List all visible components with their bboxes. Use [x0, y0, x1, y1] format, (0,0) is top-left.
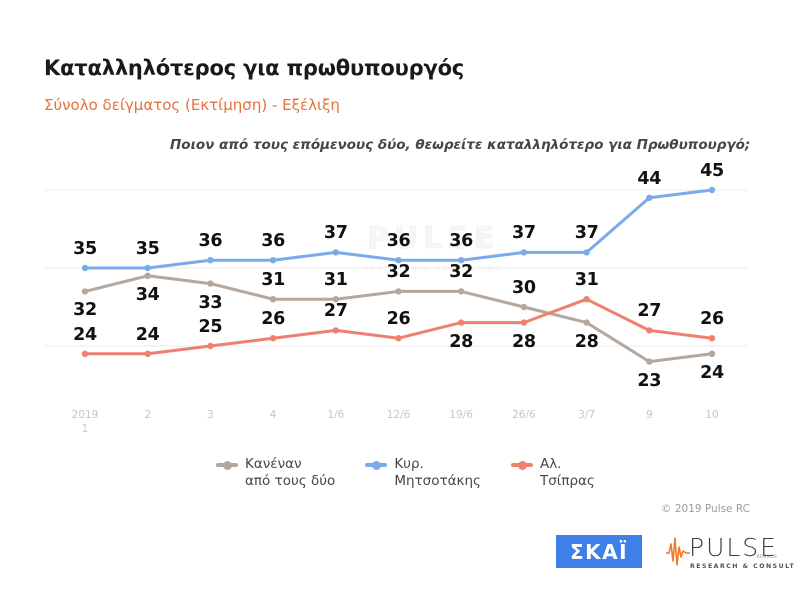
x-tick-line: 1/6	[327, 408, 344, 422]
data-point[interactable]	[583, 296, 589, 302]
data-point[interactable]	[145, 351, 151, 357]
data-label: 36	[261, 231, 285, 251]
skai-logo-text: ΣΚΑΪ	[570, 540, 628, 564]
x-tick-label: 12/6	[387, 408, 411, 422]
x-tick-label: 20191	[72, 408, 99, 436]
x-tick-label: 4	[270, 408, 277, 422]
data-label: 23	[637, 371, 661, 391]
x-tick-label: 19/6	[449, 408, 473, 422]
data-label: 37	[512, 223, 536, 243]
data-label: 28	[449, 332, 473, 352]
data-point[interactable]	[270, 296, 276, 302]
data-point[interactable]	[82, 265, 88, 271]
data-label: 24	[73, 325, 97, 345]
data-point[interactable]	[270, 257, 276, 263]
legend-label-mitsotakis: Κυρ. Μητσοτάκης	[394, 456, 481, 490]
data-label: 35	[73, 239, 97, 259]
legend-item-mitsotakis[interactable]: Κυρ. Μητσοτάκης	[365, 456, 481, 490]
data-label: 31	[261, 270, 285, 290]
data-point[interactable]	[709, 335, 715, 341]
skai-logo: ΣΚΑΪ	[556, 535, 642, 568]
copyright-text: © 2019 Pulse RC	[661, 503, 750, 515]
pulse-logo: PULSE KOSMOS RESEARCH & CONSULTING	[665, 533, 785, 573]
x-tick-label: 26/6	[512, 408, 536, 422]
data-point[interactable]	[207, 343, 213, 349]
legend-label-kanenan: Κανέναν από τους δύο	[245, 456, 335, 490]
data-label: 32	[73, 300, 97, 320]
x-tick-line: 26/6	[512, 408, 536, 422]
x-tick-line: 3/7	[578, 408, 595, 422]
series-line-blue	[85, 190, 712, 268]
data-point[interactable]	[207, 257, 213, 263]
data-label: 28	[575, 332, 599, 352]
data-label: 26	[387, 309, 411, 329]
waveform-icon	[665, 535, 691, 569]
data-label: 34	[136, 285, 160, 305]
legend-swatch-red	[511, 463, 533, 467]
x-tick-label: 2	[144, 408, 151, 422]
data-point[interactable]	[82, 288, 88, 294]
data-point[interactable]	[82, 351, 88, 357]
legend-label-tsipras: Αλ. Τσίπρας	[540, 456, 595, 490]
pulse-logo-subtext: RESEARCH & CONSULTING	[690, 563, 794, 570]
data-label: 25	[199, 317, 223, 337]
data-point[interactable]	[583, 319, 589, 325]
data-label: 28	[512, 332, 536, 352]
x-tick-label: 9	[646, 408, 653, 422]
data-label: 44	[637, 169, 661, 189]
x-tick-line: 4	[270, 408, 277, 422]
x-tick-line: 19/6	[449, 408, 473, 422]
data-point[interactable]	[333, 327, 339, 333]
data-point[interactable]	[646, 195, 652, 201]
data-label: 35	[136, 239, 160, 259]
data-point[interactable]	[333, 249, 339, 255]
data-label: 32	[387, 262, 411, 282]
data-point[interactable]	[145, 265, 151, 271]
data-label: 27	[324, 301, 348, 321]
x-tick-label: 1/6	[327, 408, 344, 422]
data-point[interactable]	[207, 280, 213, 286]
data-label: 36	[449, 231, 473, 251]
data-point[interactable]	[458, 319, 464, 325]
chart-page: Καταλληλότερος για πρωθυπουργός Σύνολο δ…	[0, 0, 794, 592]
data-label: 36	[199, 231, 223, 251]
x-tick-line: 2019	[72, 408, 99, 422]
data-label: 26	[261, 309, 285, 329]
x-tick-label: 3	[207, 408, 214, 422]
x-tick-label: 10	[705, 408, 718, 422]
data-label: 24	[700, 363, 724, 383]
data-point[interactable]	[709, 351, 715, 357]
data-point[interactable]	[646, 358, 652, 364]
x-tick-line: 2	[144, 408, 151, 422]
data-point[interactable]	[395, 288, 401, 294]
data-label: 36	[387, 231, 411, 251]
pulse-kosmos-text: KOSMOS	[757, 554, 777, 559]
data-label: 32	[449, 262, 473, 282]
x-tick-line: 3	[207, 408, 214, 422]
legend-swatch-taupe	[216, 463, 238, 467]
legend-swatch-blue	[365, 463, 387, 467]
data-label: 27	[637, 301, 661, 321]
data-label: 45	[700, 161, 724, 181]
data-point[interactable]	[521, 304, 527, 310]
data-label: 31	[324, 270, 348, 290]
chart-legend: Κανέναν από τους δύο Κυρ. Μητσοτάκης Αλ.…	[216, 456, 595, 490]
data-label: 30	[512, 278, 536, 298]
x-tick-line: 9	[646, 408, 653, 422]
data-point[interactable]	[521, 249, 527, 255]
data-label: 37	[324, 223, 348, 243]
legend-item-kanenan[interactable]: Κανέναν από τους δύο	[216, 456, 335, 490]
data-label: 31	[575, 270, 599, 290]
legend-item-tsipras[interactable]: Αλ. Τσίπρας	[511, 456, 595, 490]
data-label: 24	[136, 325, 160, 345]
data-point[interactable]	[458, 288, 464, 294]
data-point[interactable]	[270, 335, 276, 341]
data-point[interactable]	[145, 273, 151, 279]
data-point[interactable]	[521, 319, 527, 325]
data-label: 26	[700, 309, 724, 329]
data-label: 37	[575, 223, 599, 243]
x-tick-line: 10	[705, 408, 718, 422]
data-point[interactable]	[583, 249, 589, 255]
data-point[interactable]	[646, 327, 652, 333]
data-label: 33	[199, 293, 223, 313]
x-tick-line: 12/6	[387, 408, 411, 422]
data-point[interactable]	[709, 187, 715, 193]
x-tick-label: 3/7	[578, 408, 595, 422]
data-point[interactable]	[395, 335, 401, 341]
x-tick-line: 1	[72, 422, 99, 436]
